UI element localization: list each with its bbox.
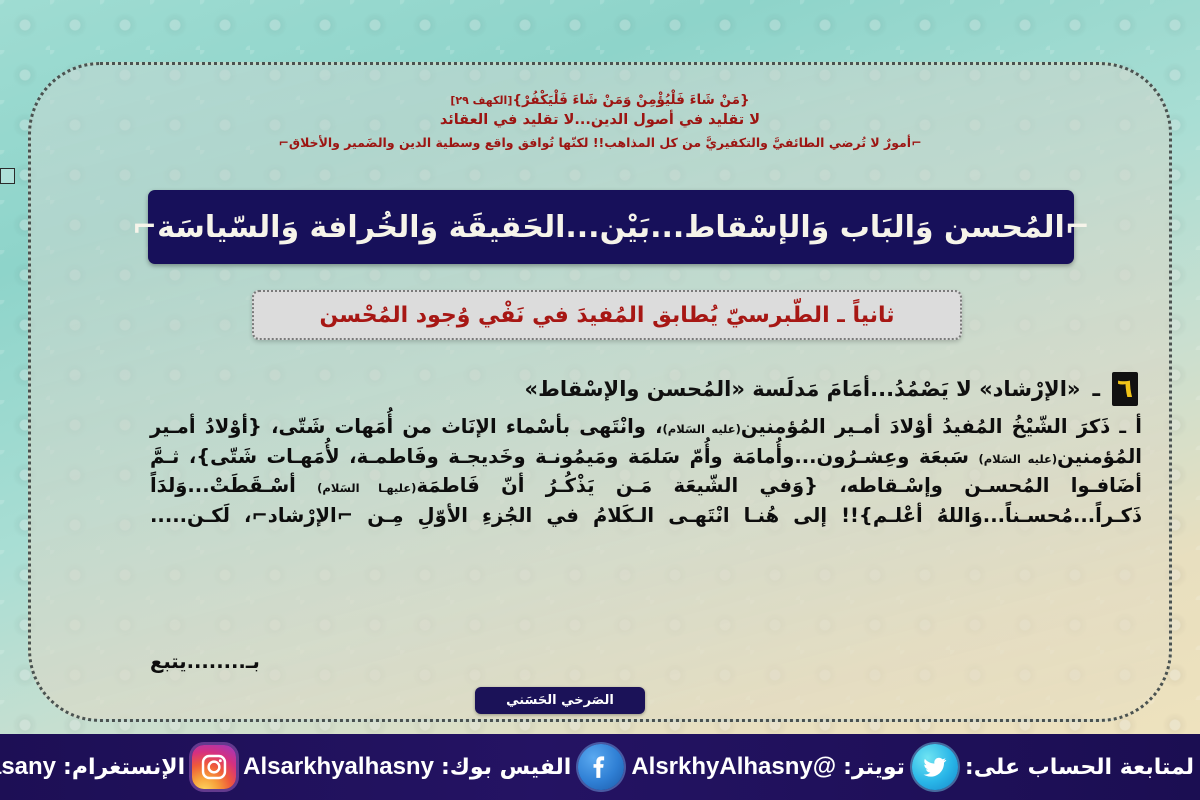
heading-dash: ـ — [1092, 377, 1100, 402]
instagram-handle[interactable]: alsarkhyalhasany — [0, 753, 56, 781]
header-block: {مَنْ شَاءَ فَلْيُؤْمِنْ وَمَنْ شَاءَ فَ… — [0, 92, 1200, 150]
twitter-bird-icon[interactable] — [912, 744, 958, 790]
numbered-heading-text: «الإرْشاد» لا يَصْمُدُ...أمَامَ مَدلَسة … — [525, 377, 1081, 401]
facebook-handle[interactable]: Alsarkhyalhasny — [243, 753, 434, 781]
author-signature-badge: الصَرخي الحَسَني — [475, 687, 645, 714]
numbered-heading-row: ٦ ـ «الإرْشاد» لا يَصْمُدُ...أمَامَ مَدل… — [150, 372, 1138, 406]
twitter-label: تويتر: — [843, 755, 905, 780]
instagram-camera-icon[interactable] — [192, 745, 236, 789]
title-banner-text: ⌐المُحسن وَالبَاب وَالإسْقاط...بَيْن...ا… — [132, 210, 1090, 245]
body-paragraph: أ ـ ذَكرَ الشّيْخُ المُفيدُ أوْلادَ أمـي… — [150, 412, 1142, 531]
stray-mark — [0, 168, 15, 184]
author-signature-text: الصَرخي الحَسَني — [506, 693, 614, 708]
quran-verse-text: {مَنْ شَاءَ فَلْيُؤْمِنْ وَمَنْ شَاءَ فَ… — [512, 92, 749, 108]
subtitle-box: ثانياً ـ الطّبرسيّ يُطابق المُفيدَ في نَ… — [252, 290, 962, 340]
item-number-badge: ٦ — [1112, 372, 1138, 406]
twitter-handle[interactable]: @AlsrkhyAlhasny — [631, 753, 836, 781]
facebook-f-icon[interactable] — [578, 744, 624, 790]
facebook-label: الفيس بوك: — [441, 755, 571, 780]
poster-canvas: {مَنْ شَاءَ فَلْيُؤْمِنْ وَمَنْ شَاءَ فَ… — [0, 0, 1200, 800]
quran-verse-reference: [الكهف ٢٩] — [450, 94, 512, 107]
continued-note: بـ........يتبع — [150, 650, 1142, 673]
social-media-bar: لمتابعة الحساب على: تويتر: @AlsrkhyAlhas… — [0, 734, 1200, 800]
subtitle-text: ثانياً ـ الطّبرسيّ يُطابق المُفيدَ في نَ… — [320, 303, 895, 328]
title-banner: ⌐المُحسن وَالبَاب وَالإسْقاط...بَيْن...ا… — [148, 190, 1074, 264]
header-slogan-line: لا تقليد في أصول الدين...لا تقليد في الع… — [0, 112, 1200, 130]
instagram-label: الإنستغرام: — [63, 755, 185, 780]
follow-label: لمتابعة الحساب على: — [965, 755, 1194, 780]
header-note-line: ⌐أمورٌ لا تُرضي الطائفيَّ والتكفيريَّ من… — [0, 135, 1200, 150]
quran-verse-line: {مَنْ شَاءَ فَلْيُؤْمِنْ وَمَنْ شَاءَ فَ… — [0, 92, 1200, 108]
